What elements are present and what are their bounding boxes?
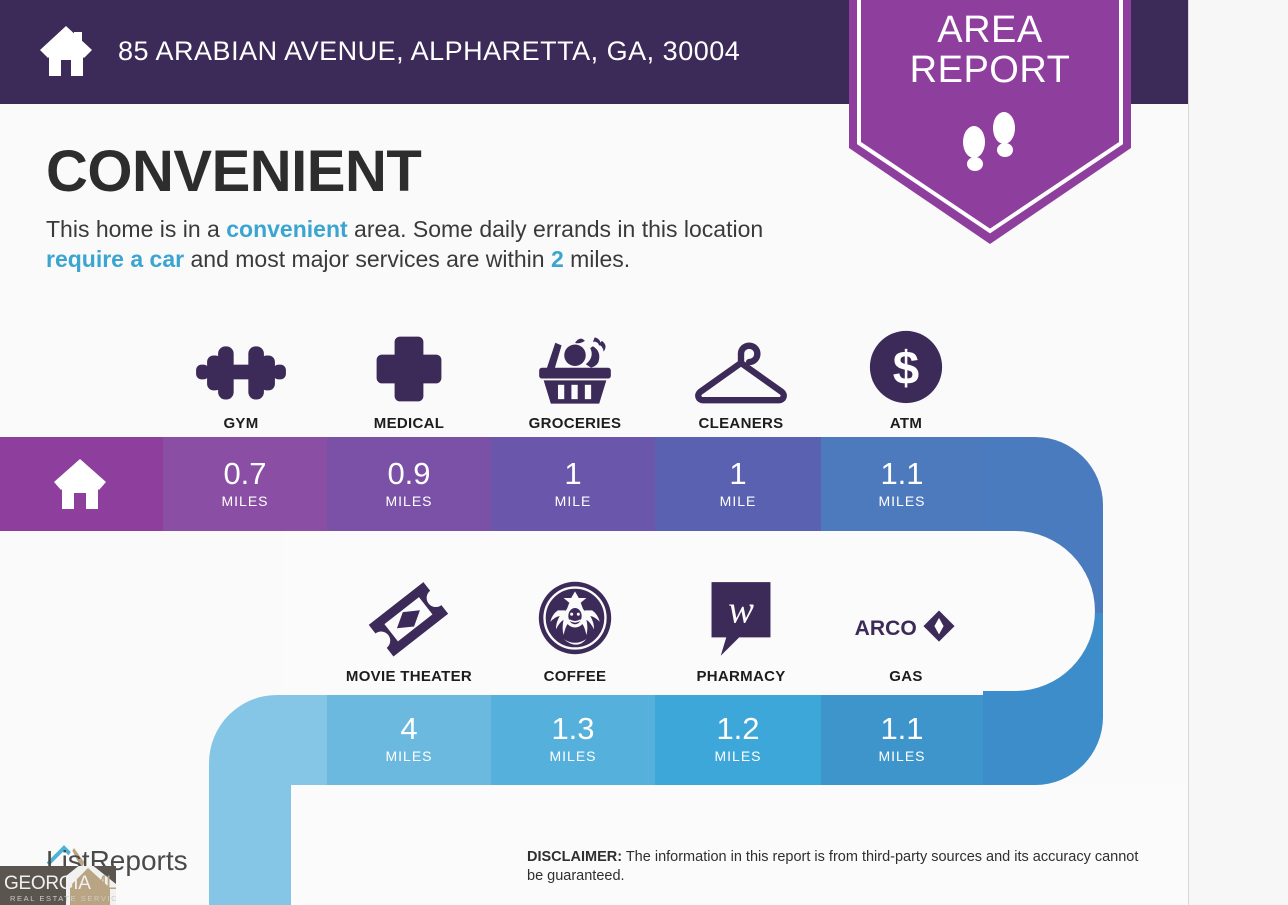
badge-line-1: AREA: [849, 10, 1131, 50]
distance-value: 1.3: [491, 712, 655, 746]
icon-label: MOVIE THEATER: [327, 668, 491, 685]
icon-cell-movie-theater: MOVIE THEATER: [327, 578, 491, 685]
distance-cell-gym: 0.7 MILES: [163, 457, 327, 509]
area-report-badge: AREA REPORT: [849, 0, 1131, 244]
icon-label: GAS: [824, 668, 988, 685]
distance-unit: MILES: [327, 748, 491, 764]
distance-value: 1.1: [821, 457, 983, 491]
distance-unit: MILES: [821, 493, 983, 509]
distance-unit: MILE: [655, 493, 821, 509]
distance-cell-cleaners: 1 MILE: [655, 457, 821, 509]
distance-cell-coffee: 1.3 MILES: [491, 712, 655, 764]
movie-ticket-icon: [327, 578, 491, 658]
arco-logo-icon: ARCO: [824, 578, 988, 658]
distance-cell-atm: 1.1 MILES: [821, 457, 983, 509]
badge-line-2: REPORT: [849, 50, 1131, 90]
distance-value: 0.7: [163, 457, 327, 491]
distance-value: 0.9: [327, 457, 491, 491]
icon-cell-pharmacy: w PHARMACY: [659, 578, 823, 685]
distance-cell-gas: 1.1 MILES: [821, 712, 983, 764]
distance-cell-movie-theater: 4 MILES: [327, 712, 491, 764]
distance-cell-groceries: 1 MILE: [491, 457, 655, 509]
disclaimer-text: DISCLAIMER: The information in this repo…: [527, 848, 1152, 886]
icon-cell-coffee: COFFEE: [493, 578, 657, 685]
distance-value: 1: [655, 457, 821, 491]
walgreens-logo-icon: w: [659, 578, 823, 658]
distance-unit: MILES: [821, 748, 983, 764]
distance-unit: MILES: [491, 748, 655, 764]
area-report-page: 85 ARABIAN AVENUE, ALPHARETTA, GA, 30004…: [0, 0, 1189, 905]
icon-label: PHARMACY: [659, 668, 823, 685]
gmls-mls-text: MLS: [91, 873, 116, 894]
badge-label: AREA REPORT: [849, 10, 1131, 90]
distance-unit: MILES: [655, 748, 821, 764]
distance-value: 1.1: [821, 712, 983, 746]
footprints-icon: [954, 106, 1026, 178]
icon-cell-gas: ARCO GAS: [824, 578, 988, 685]
georgia-mls-logo: GEORGIAMLS REAL ESTATE SERVICES: [0, 866, 116, 905]
distance-unit: MILE: [491, 493, 655, 509]
ribbon-home-icon: [52, 457, 108, 509]
distance-value: 1: [491, 457, 655, 491]
gmls-tagline: REAL ESTATE SERVICES: [10, 894, 116, 903]
distance-unit: MILES: [163, 493, 327, 509]
distance-unit: MILES: [327, 493, 491, 509]
starbucks-logo-icon: [493, 578, 657, 658]
gmls-georgia-text: GEORGIA: [4, 873, 91, 894]
gmls-wordmark: GEORGIAMLS: [4, 873, 116, 895]
distance-value: 1.2: [655, 712, 821, 746]
distance-cell-pharmacy: 1.2 MILES: [655, 712, 821, 764]
disclaimer-label: DISCLAIMER:: [527, 849, 622, 865]
svg-text:w: w: [728, 590, 754, 632]
arco-brand-text: ARCO: [855, 617, 917, 640]
icon-label: COFFEE: [493, 668, 657, 685]
distance-cell-medical: 0.9 MILES: [327, 457, 491, 509]
distance-value: 4: [327, 712, 491, 746]
